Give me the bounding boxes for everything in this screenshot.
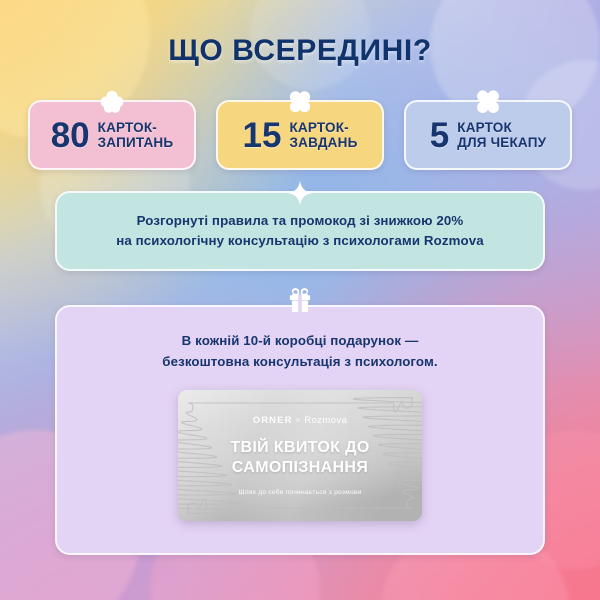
ticket-headline-line1: ТВІЙ КВИТОК ДО (230, 439, 369, 456)
stat-card-questions[interactable]: 80 КАРТОК- ЗАПИТАНЬ (28, 100, 196, 170)
ticket-brand-orner: ORNER (253, 415, 293, 426)
stat-label: КАРТОК ДЛЯ ЧЕКАПУ (457, 120, 546, 150)
flower-icon (99, 89, 125, 115)
stat-card-checkup[interactable]: 5 КАРТОК ДЛЯ ЧЕКАПУ (404, 100, 572, 170)
sparkle-icon (287, 180, 313, 206)
gift-offer-line2: безкоштовна консультація з психологом. (162, 354, 437, 369)
rules-promo-line2: на психологічну консультацію з психолога… (116, 233, 483, 248)
stat-label-line1: КАРТОК- (289, 120, 348, 135)
ticket-subtitle: Шлях до себе починається з розмови (238, 489, 361, 496)
flower-icon (287, 89, 313, 115)
stat-label-line2: ДЛЯ ЧЕКАПУ (457, 135, 546, 150)
ticket-headline: ТВІЙ КВИТОК ДО САМОПІЗНАННЯ (230, 438, 369, 477)
promo-poster: ЩО ВСЕРЕДИНІ? 80 КАРТОК- З (0, 0, 600, 600)
ticket-headline-line2: САМОПІЗНАННЯ (232, 459, 368, 476)
stat-label-line1: КАРТОК (457, 120, 512, 135)
stat-label: КАРТОК- ЗАПИТАНЬ (98, 120, 174, 150)
gift-offer-line1: В кожній 10-й коробці подарунок — (182, 333, 419, 348)
stat-label: КАРТОК- ЗАВДАНЬ (289, 120, 357, 150)
stat-card-tasks[interactable]: 15 КАРТОК- ЗАВДАНЬ (216, 100, 384, 170)
stat-number: 80 (51, 118, 90, 153)
stat-label-line2: ЗАПИТАНЬ (98, 135, 174, 150)
page-title: ЩО ВСЕРЕДИНІ? (0, 34, 600, 68)
stat-label-line2: ЗАВДАНЬ (289, 135, 357, 150)
rules-promo-card[interactable]: Розгорнуті правила та промокод зі знижко… (55, 191, 545, 271)
stat-number: 15 (243, 118, 282, 153)
ticket-brand-separator: × (293, 416, 305, 425)
gift-icon (285, 285, 315, 315)
rules-promo-line1: Розгорнуті правила та промокод зі знижко… (137, 213, 464, 228)
flower-icon (475, 89, 501, 115)
ticket-brand-rozmova: Rozmova (304, 415, 347, 426)
stat-number: 5 (430, 118, 449, 153)
ticket-graphic[interactable]: ORNER×Rozmova ТВІЙ КВИТОК ДО САМОПІЗНАНН… (178, 390, 422, 521)
ticket-brand: ORNER×Rozmova (253, 415, 348, 426)
stat-label-line1: КАРТОК- (98, 120, 157, 135)
stats-row: 80 КАРТОК- ЗАПИТАНЬ 15 (28, 100, 572, 170)
rules-promo-text: Розгорнуті правила та промокод зі знижко… (98, 211, 501, 251)
gift-offer-text: В кожній 10-й коробці подарунок — безкош… (57, 331, 543, 372)
ticket-content: ORNER×Rozmova ТВІЙ КВИТОК ДО САМОПІЗНАНН… (178, 390, 422, 521)
